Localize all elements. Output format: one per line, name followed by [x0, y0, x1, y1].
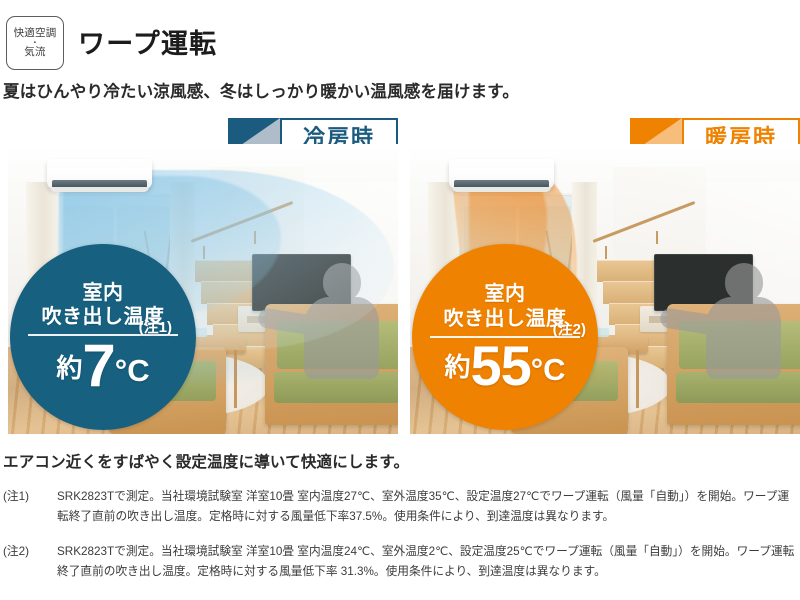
callout-note-ref: (注1) — [139, 316, 172, 337]
footnote-label: (注2) — [3, 542, 57, 583]
page-title: ワープ運転 — [78, 22, 217, 61]
footnote-item: (注1) SRK2823Tで測定。当社環境試験室 洋室10畳 室内温度27℃、室… — [3, 487, 797, 528]
category-badge: 快適空調 ・ 気流 — [6, 16, 64, 70]
footnote-text: SRK2823Tで測定。当社環境試験室 洋室10畳 室内温度24℃、室外温度2℃… — [57, 542, 797, 583]
handrail-post — [656, 231, 658, 244]
footnote-label: (注1) — [3, 487, 57, 528]
callout-heading: 室内 吹き出し温度 — [444, 282, 567, 331]
page-header: 快適空調 ・ 気流 ワープ運転 — [0, 14, 800, 70]
callout-value: 55 — [470, 340, 530, 392]
closing-caption: エアコン近くをすばやく設定温度に導いて快適にします。 — [3, 450, 409, 472]
air-conditioner-unit — [47, 159, 152, 189]
table-leg — [636, 350, 639, 408]
panel-heating: 暖房時 — [410, 118, 800, 434]
callout-approx: 約 — [56, 348, 82, 393]
comparison-panels: 冷房時 — [0, 118, 800, 434]
temperature-callout-heating: 室内 吹き出し温度 約 55 °C (注2) — [412, 244, 598, 430]
ac-bottom-lip — [452, 187, 551, 192]
ac-bottom-lip — [50, 187, 149, 192]
temperature-callout-cooling: 室内 吹き出し温度 約 7 °C (注1) — [10, 244, 196, 430]
callout-approx: 約 — [444, 347, 470, 392]
person-silhouette — [703, 263, 785, 379]
footnote-item: (注2) SRK2823Tで測定。当社環境試験室 洋室10畳 室内温度24℃、室… — [3, 542, 797, 583]
callout-line1: 室内 — [42, 281, 165, 305]
callout-line1: 室内 — [444, 282, 567, 306]
panel-cooling: 冷房時 — [8, 118, 398, 434]
callout-unit: °C — [115, 353, 150, 393]
air-conditioner-unit — [449, 159, 554, 189]
warp-operation-page: 快適空調 ・ 気流 ワープ運転 夏はひんやり冷たい涼風感、冬はしっかり暖かい温風… — [0, 0, 800, 600]
footnote-text: SRK2823Tで測定。当社環境試験室 洋室10畳 室内温度27℃、室外温度35… — [57, 487, 797, 528]
lead-text: 夏はひんやり冷たい涼風感、冬はしっかり暖かい温風感を届けます。 — [3, 78, 519, 102]
callout-value-row: 約 7 °C (注1) — [10, 338, 196, 393]
room-photo-cooling: 室内 吹き出し温度 約 7 °C (注1) — [8, 144, 398, 434]
callout-line2: 吹き出し温度 — [444, 307, 567, 331]
callout-value-row: 約 55 °C (注2) — [412, 340, 598, 392]
callout-note-ref: (注2) — [553, 318, 586, 339]
category-badge-line2: 気流 — [24, 47, 45, 59]
room-photo-heating: 室内 吹き出し温度 約 55 °C (注2) — [410, 144, 800, 434]
callout-unit: °C — [531, 352, 566, 392]
callout-value: 7 — [82, 338, 114, 393]
footnotes: (注1) SRK2823Tで測定。当社環境試験室 洋室10畳 室内温度27℃、室… — [3, 487, 797, 597]
handrail-post — [605, 246, 607, 259]
